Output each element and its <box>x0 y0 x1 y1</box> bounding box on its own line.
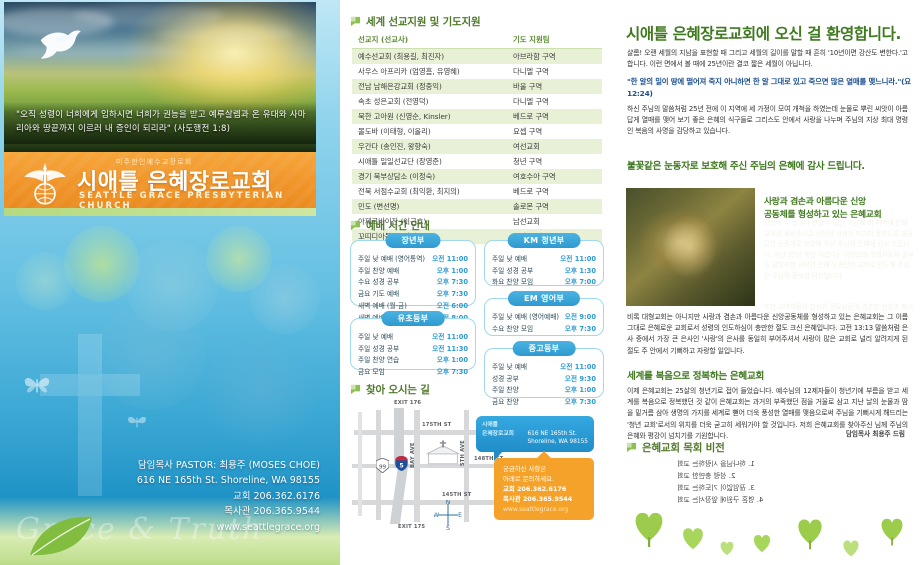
schedule-row: 주일 낮 예배 (영어통역)오전 11:00 <box>358 252 468 264</box>
schedule-group-title: EM 영어부 <box>508 291 580 306</box>
welcome-title: 시애틀 은혜장로교회에 오신 걸 환영합니다. <box>626 22 901 44</box>
prayer-team-cell: 솔로몬 구역 <box>507 199 602 214</box>
inquiry-url[interactable]: www.seattlegrace.org <box>503 505 587 514</box>
inquiry-parsonage-phone: 목사관 206.365.9544 <box>503 495 587 505</box>
service-name: 주일 낮 예배 <box>358 330 417 342</box>
schedule-row: 주일 찬양오후 1:00 <box>492 384 596 396</box>
missions-table-row: 속초 성은교회 (전영덕)다니엘 구역 <box>352 94 602 109</box>
leaf-decoration-icon <box>28 513 98 559</box>
schedule-row: 성경 공부오전 9:30 <box>492 372 596 384</box>
subheading-world-gospel: 세계를 복음으로 정복하는 은혜교회 <box>627 368 764 382</box>
schedule-row: 주일 찬양 연습오후 1:00 <box>358 354 468 366</box>
schedule-table: 주일 낮 예배오전 11:00주일 성경 공부오후 1:30화요 찬양 모임오후… <box>492 252 596 287</box>
service-time: 오후 7:30 <box>430 287 468 299</box>
missions-table-row: 사우스 아프리카 (엄영흠, 유영혜)다니엘 구역 <box>352 64 602 79</box>
vision-item: 2. 성령 충만한 교회 <box>677 470 907 482</box>
service-time: 오후 1:00 <box>417 354 468 366</box>
service-name: 주일 낮 예배 <box>492 360 543 372</box>
service-time: 오후 7:30 <box>417 365 468 377</box>
schedule-row: 수요 찬양 모임오후 7:30 <box>492 322 596 334</box>
service-name: 주일 낮 예배 (영어통역) <box>358 252 430 264</box>
map-heading-text: 찾아 오시는 길 <box>366 382 430 397</box>
missions-table-row: 몰도바 (이태형, 이올리)요셉 구역 <box>352 124 602 139</box>
road-label: EXIT 175 <box>398 524 425 530</box>
schedule-group-title: 중고등부 <box>513 341 576 356</box>
service-time: 오전 9:30 <box>543 372 596 384</box>
prayer-team-cell: 여호수아 구역 <box>507 169 602 184</box>
flag-icon <box>350 16 361 27</box>
pastor-signature: 담임목사 최용주 드림 <box>846 428 905 438</box>
flag-icon <box>350 220 361 231</box>
road-label: 175TH ST <box>422 422 451 428</box>
inquiry-badge: 궁금하신 사항은 아래로 문의하세요. 교회 206.362.6176 목사관 … <box>494 458 594 520</box>
callout-address-2: Shoreline, WA 98155 <box>527 439 588 445</box>
mission-field-cell: 우간다 (송인진, 왕향숙) <box>352 139 507 154</box>
mission-field-cell: 전남 남해은강교회 (정중익) <box>352 79 507 94</box>
svg-text:S: S <box>446 525 450 530</box>
road-label: BAY AVE <box>410 442 416 468</box>
mission-field-cell: 예수선교회 (최용길, 최진자) <box>352 49 507 65</box>
schedule-row: 주일 성경 공부오전 11:30 <box>358 342 468 354</box>
schedule-row: 주일 낮 예배오전 11:00 <box>358 330 468 342</box>
dove-icon <box>36 24 84 64</box>
jesus-child-photo <box>626 188 755 306</box>
schedule-row: 주일 성경 공부오후 1:30 <box>492 264 596 276</box>
service-name: 주일 성경 공부 <box>492 264 548 276</box>
prayer-team-cell: 다니엘 구역 <box>507 94 602 109</box>
service-time: 오후 7:30 <box>430 276 468 288</box>
church-logo-icon <box>22 160 68 206</box>
address-callout: 시애틀은혜장로교회 616 NE 165th St. Shoreline, WA… <box>476 416 594 452</box>
bokeh-decoration <box>16 252 74 310</box>
service-name: 수요 찬양 모임 <box>492 322 563 334</box>
mission-field-cell: 몰도바 (이태형, 이올리) <box>352 124 507 139</box>
svg-text:99: 99 <box>379 464 387 470</box>
vision-heading-text: 은혜교회 목회 비전 <box>642 440 725 455</box>
missions-table-row: 민도 (변선명)솔로몬 구역 <box>352 199 602 214</box>
missions-table-row: 전북 서점수교회 (최익환, 최지의)베드로 구역 <box>352 184 602 199</box>
schedule-row: 주일 낮 예배오전 11:00 <box>492 252 596 264</box>
welcome-intro: 샬롬! 오랜 세월의 지남을 표현할 때 그리고 세월의 길이를 말할 때 흔히… <box>627 48 908 70</box>
left-panel: "오직 성령이 너희에게 임하시면 너희가 권능을 받고 예루살렘과 온 유대와… <box>0 0 340 565</box>
mission-field-cell: 속초 성은교회 (전영덕) <box>352 94 507 109</box>
church-building-icon <box>425 440 461 466</box>
schedule-row: 수요 성경 공부오후 7:30 <box>358 276 468 288</box>
right-panel: 시애틀 은혜장로교회에 오신 걸 환영합니다. 샬롬! 오랜 세월의 지남을 표… <box>612 0 921 565</box>
missions-table-row: 전남 남해은강교회 (정중익)바울 구역 <box>352 79 602 94</box>
service-name: 수요 성경 공부 <box>358 276 430 288</box>
quote-body: 하신 주님의 말씀처럼 25년 전에 이 지역에 세 가정이 모여 개척을 하였… <box>627 104 908 138</box>
inquiry-line1: 궁금하신 사항은 <box>503 465 587 475</box>
service-name: 주일 낮 예배 (영어예배) <box>492 310 563 322</box>
missions-table-row: 예수선교회 (최용길, 최진자)아브라함 구역 <box>352 49 602 65</box>
svg-text:N: N <box>446 500 451 506</box>
pastor-line: 담임목사 PASTOR: 최용주 (MOSES CHOE) <box>70 458 320 473</box>
prayer-team-cell: 아브라함 구역 <box>507 49 602 65</box>
paragraph-community: 비록 대형교회는 아니지만 사랑과 겸손과 아름다운 신앙공동체를 형성하고 있… <box>627 312 908 357</box>
vision-section-header: 은혜교회 목회 비전 <box>626 440 725 455</box>
mission-field-cell: 전북 서점수교회 (최익환, 최지의) <box>352 184 507 199</box>
hero-sunrise-photo: "오직 성령이 너희에게 임하시면 너희가 권능을 받고 예루살렘과 온 유대와… <box>4 2 316 152</box>
service-name: 새벽 예배 (월-금) <box>358 299 430 311</box>
flag-icon <box>350 384 361 395</box>
prayer-team-cell: 남선교회 <box>507 214 602 229</box>
service-name: 금요 모임 <box>358 365 417 377</box>
missions-table-row: 경기 북부상담소 (이정숙)여호수아 구역 <box>352 169 602 184</box>
service-time: 오전 11:00 <box>543 360 596 372</box>
compass-icon: N E S W <box>434 500 462 530</box>
service-time: 오후 1:00 <box>543 384 596 396</box>
prayer-team-cell: 청년 구역 <box>507 154 602 169</box>
service-name: 주일 찬양 예배 <box>358 264 430 276</box>
schedule-box-youth: 중고등부주일 낮 예배오전 11:00성경 공부오전 9:30주일 찬양오후 1… <box>484 348 604 398</box>
brochure-page: "오직 성령이 너희에게 임하시면 너희가 권능을 받고 예루살렘과 온 유대와… <box>0 0 921 565</box>
service-time: 오전 11:00 <box>417 330 468 342</box>
svg-text:E: E <box>458 512 462 519</box>
service-time: 오후 1:00 <box>430 264 468 276</box>
bokeh-decoration <box>200 330 320 450</box>
heart-tree-icon <box>790 511 830 551</box>
schedule-group-title: KM 청년부 <box>508 233 581 248</box>
road-label: EXIT 176 <box>394 400 421 406</box>
bible-verse: "오직 성령이 너희에게 임하시면 너희가 권능을 받고 예루살렘과 온 유대와… <box>4 102 316 144</box>
vision-item: 1. 하나님을 시랑하는 교회 <box>677 458 907 470</box>
mission-field-cell: 민도 (변선명) <box>352 199 507 214</box>
schedule-row: 주일 낮 예배오전 11:00 <box>492 360 596 372</box>
road-label: 145TH ST <box>442 492 471 498</box>
schedule-heading-text: 예배 시간 안내 <box>366 218 430 233</box>
schedule-section-header: 예배 시간 안내 <box>350 218 430 233</box>
svg-text:W: W <box>434 512 439 519</box>
missions-table-row: 시애틀 일일선교단 (장영준)청년 구역 <box>352 154 602 169</box>
service-name: 주일 찬양 <box>492 384 543 396</box>
service-time: 오후 1:30 <box>548 264 596 276</box>
schedule-row: 주일 찬양 예배오후 1:00 <box>358 264 468 276</box>
schedule-group-title: 유초등부 <box>382 311 445 326</box>
schedule-box-km: KM 청년부주일 낮 예배오전 11:00주일 성경 공부오후 1:30화요 찬… <box>484 240 604 286</box>
church-phone: 교회 206.362.6176 <box>70 489 320 504</box>
service-time: 오후 7:00 <box>548 276 596 288</box>
callout-church-name: 시애틀은혜장로교회 <box>482 422 514 437</box>
schedule-box-children: 유초등부주일 낮 예배오전 11:00주일 성경 공부오전 11:30주일 찬양… <box>350 318 476 370</box>
heart-tree-icon <box>874 511 910 547</box>
missions-table-header-row: 선교지 (선교사) 기도 지원팀 <box>352 32 602 49</box>
service-time: 오전 11:30 <box>417 342 468 354</box>
inquiry-church-phone: 교회 206.362.6176 <box>503 485 587 495</box>
butterfly-icon <box>126 412 148 432</box>
location-map[interactable]: EXIT 176 175TH ST 148TH ST 145TH ST EXIT… <box>346 396 606 536</box>
prayer-team-cell: 바울 구역 <box>507 79 602 94</box>
heart-icon <box>838 535 864 561</box>
missions-table-row: 우간다 (송인진, 왕향숙)여선교회 <box>352 139 602 154</box>
service-name: 주일 성경 공부 <box>358 342 417 354</box>
service-time: 오후 7:30 <box>563 322 596 334</box>
callout-address-1: 616 NE 165th St. <box>527 431 576 437</box>
svg-text:5: 5 <box>399 462 403 469</box>
schedule-row: 금요 모임오후 7:30 <box>358 365 468 377</box>
prayer-team-cell: 베드로 구역 <box>507 109 602 124</box>
heart-icon <box>676 521 710 555</box>
prayer-team-cell: 다니엘 구역 <box>507 64 602 79</box>
missions-heading-text: 세계 선교지원 및 기도지원 <box>366 14 480 29</box>
col-prayer-team: 기도 지원팀 <box>507 32 602 49</box>
heart-icon <box>716 537 738 559</box>
bible-quote: "한 알의 밀이 땅에 떨어져 죽지 아니하면 한 알 그대로 있고 죽으면 많… <box>627 76 912 101</box>
heart-icon <box>748 529 776 557</box>
mission-field-cell: 경기 북부상담소 (이정숙) <box>352 169 507 184</box>
service-time: 오전 6:00 <box>430 299 468 311</box>
vision-item: 3. 끊임없이 기도하는 교회 <box>677 482 907 494</box>
flag-icon <box>626 442 637 453</box>
service-time: 오전 11:00 <box>548 252 596 264</box>
butterfly-icon <box>22 372 52 398</box>
schedule-box-adult: 장년부주일 낮 예배 (영어통역)오전 11:00주일 찬양 예배오후 1:00… <box>350 240 476 306</box>
middle-panel: 세계 선교지원 및 기도지원 선교지 (선교사) 기도 지원팀 예수선교회 (최… <box>340 0 612 565</box>
interstate-shield-5-icon: 5 <box>395 456 408 471</box>
service-name: 주일 찬양 연습 <box>358 354 417 366</box>
service-name: 주일 낮 예배 <box>492 252 548 264</box>
mission-field-cell: 시애틀 일일선교단 (장영준) <box>352 154 507 169</box>
schedule-table: 주일 낮 예배 (영어예배)오전 9:00수요 찬양 모임오후 7:30 <box>492 310 596 334</box>
schedule-row: 새벽 예배 (월-금)오전 6:00 <box>358 299 468 311</box>
mission-field-cell: 북한 고아원 (신영순, Kinsler) <box>352 109 507 124</box>
schedule-row: 주일 낮 예배 (영어예배)오전 9:00 <box>492 310 596 322</box>
green-divider <box>4 208 316 216</box>
schedule-table: 주일 낮 예배오전 11:00주일 성경 공부오전 11:30주일 찬양 연습오… <box>358 330 468 377</box>
schedule-row: 화요 찬양 모임오후 7:00 <box>492 276 596 288</box>
prayer-team-cell: 베드로 구역 <box>507 184 602 199</box>
vision-item: 4. 영혼 구원에 앞장서는 교회 <box>677 494 907 506</box>
missions-table-row: 북한 고아원 (신영순, Kinsler)베드로 구역 <box>352 109 602 124</box>
service-time: 오전 9:00 <box>563 310 596 322</box>
subheading-protection: 불꽃같은 눈동자로 보호해 주신 주님의 은혜에 감사 드립니다. <box>627 158 865 172</box>
prayer-team-cell: 요셉 구역 <box>507 124 602 139</box>
schedule-box-em: EM 영어부주일 낮 예배 (영어예배)오전 9:00수요 찬양 모임오후 7:… <box>484 298 604 336</box>
schedule-group-title: 장년부 <box>386 233 441 248</box>
col-field: 선교지 (선교사) <box>352 32 507 49</box>
schedule-row: 금요 기도 예배오후 7:30 <box>358 287 468 299</box>
service-name: 금요 기도 예배 <box>358 287 430 299</box>
map-section-header: 찾아 오시는 길 <box>350 382 430 397</box>
service-time: 오전 11:00 <box>430 252 468 264</box>
bokeh-decoration <box>250 264 320 334</box>
church-address: 616 NE 165th St. Shoreline, WA 98155 <box>70 473 320 488</box>
heart-tree-icon <box>626 503 672 549</box>
church-title-band: 미주한인예수교장로회 시애틀 은혜장로교회 SEATTLE GRACE PRES… <box>4 152 316 208</box>
missions-table: 선교지 (선교사) 기도 지원팀 예수선교회 (최용길, 최진자)아브라함 구역… <box>352 32 602 244</box>
route-shield-99-icon: 99 <box>376 458 389 473</box>
inquiry-line2: 아래로 문의하세요. <box>503 475 587 485</box>
vision-list: 1. 하나님을 시랑하는 교회2. 성령 충만한 교회3. 끊임없이 기도하는 … <box>677 458 907 506</box>
service-name: 화요 찬양 모임 <box>492 276 548 288</box>
service-name: 성경 공부 <box>492 372 543 384</box>
prayer-team-cell: 여선교회 <box>507 139 602 154</box>
missions-section-header: 세계 선교지원 및 기도지원 <box>350 14 480 29</box>
mission-field-cell: 사우스 아프리카 (엄영흠, 유영혜) <box>352 64 507 79</box>
